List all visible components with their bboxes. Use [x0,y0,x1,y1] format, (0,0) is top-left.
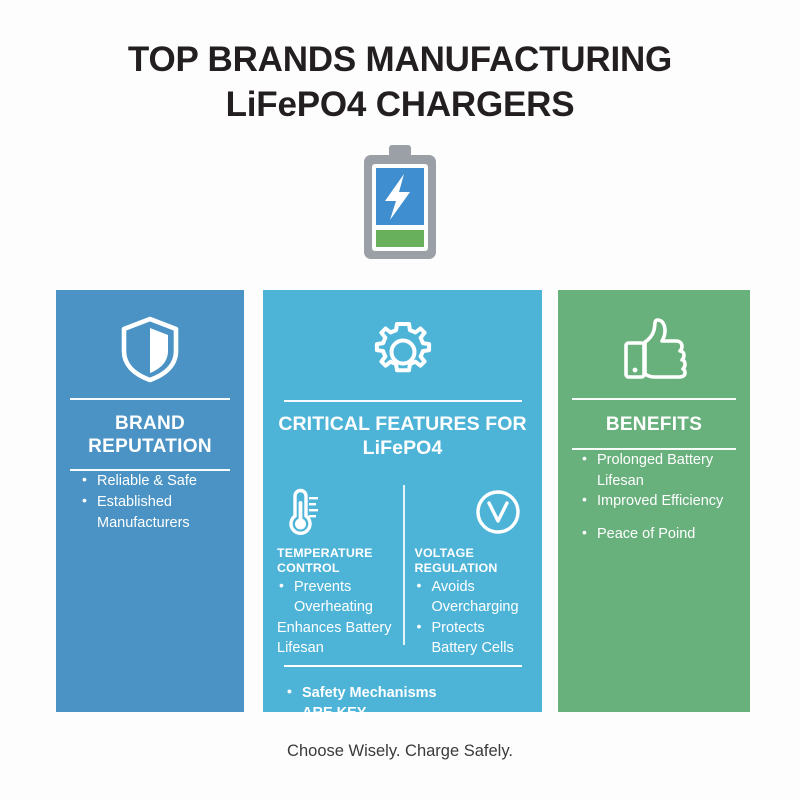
voltage-bullet-list: Avoids Overcharging Protects Battery Cel… [415,577,535,659]
brand-bullet-list: Reliable & Safe Established Manufacturer… [56,471,244,533]
list-item: Lifesan [580,471,750,492]
gear-icon [370,319,436,385]
vertical-divider [403,485,405,645]
benefits-bullet-list: Prolonged Battery Lifesan Improved Effic… [558,450,750,544]
list-item: Reliable & Safe [80,471,244,492]
card-heading-brand: BRAND REPUTATION [56,400,244,469]
divider-top [284,400,522,402]
temperature-bullet-list: Prevents Overheating Enhances Battery Li… [277,577,395,659]
subcolumn-voltage-regulation[interactable]: VOLTAGE REGULATION Avoids Overcharging P… [403,485,543,645]
subcolumn-icon-container [415,485,535,539]
list-item: Peace of Poind [580,524,750,545]
thumbs-up-icon [620,316,688,382]
list-item: Safety Mechanisms [285,683,542,704]
footer-tagline: Choose Wisely. Charge Safely. [0,742,800,761]
list-item: Established [80,492,244,513]
list-item: Improved Efficiency [580,491,750,512]
list-item: Prolonged Battery [580,450,750,471]
card-heading-features: CRITICAL FEATURES FOR LiFePO4 [263,402,542,471]
subcolumn-temperature-control[interactable]: TEMPERATURE CONTROL Prevents Overheating… [263,485,403,645]
card-icon-container [263,290,542,400]
title-line-2: LiFePO4 CHARGERS [0,83,800,128]
divider-top [70,398,230,400]
list-item: Avoids Overcharging [415,577,535,618]
hero-icon-container [0,143,800,261]
card-brand-reputation[interactable]: BRAND REPUTATION Reliable & Safe Establi… [56,290,244,712]
card-icon-container [558,290,750,398]
list-item: ARE KEY [285,703,542,724]
feature-subcolumns: TEMPERATURE CONTROL Prevents Overheating… [263,485,542,645]
title-line-1: TOP BRANDS MANUFACTURING [0,38,800,83]
card-critical-features[interactable]: CRITICAL FEATURES FOR LiFePO4 TEM [263,290,542,712]
list-item: Prevents Overheating [277,577,395,618]
safety-mechanisms-block: Safety Mechanisms ARE KEY [263,665,542,724]
card-heading-benefits: BENEFITS [558,400,750,448]
card-icon-container [56,290,244,398]
list-item: Enhances Battery Lifesan [277,618,395,659]
subcolumn-icon-container [277,485,395,539]
subcolumn-title-temperature: TEMPERATURE CONTROL [277,546,395,577]
list-item: Manufacturers [80,513,244,534]
shield-icon [119,315,181,383]
divider-top [572,398,736,400]
voltage-circle-icon [474,488,522,536]
cards-row: BRAND REPUTATION Reliable & Safe Establi… [0,290,800,712]
thermometer-icon [277,488,319,536]
page-title: TOP BRANDS MANUFACTURING LiFePO4 CHARGER… [0,38,800,128]
subcolumn-title-voltage: VOLTAGE REGULATION [415,546,535,577]
divider-safety [284,665,522,667]
card-benefits[interactable]: BENEFITS Prolonged Battery Lifesan Impro… [558,290,750,712]
safety-bullet-list: Safety Mechanisms ARE KEY [263,683,542,724]
battery-charging-icon [357,143,443,261]
list-item: Protects Battery Cells [415,618,535,659]
